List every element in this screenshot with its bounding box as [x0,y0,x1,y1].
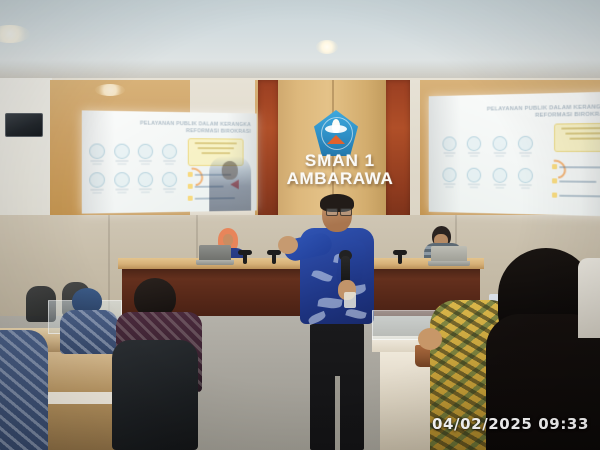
laptop-right [428,246,470,266]
chair [112,340,198,450]
school-name-line1: SMAN 1 [278,152,402,170]
desk-microphone-head [267,250,281,255]
ceiling-downlight [316,40,338,54]
desk-microphone-head [238,250,252,255]
eyeglasses-icon [340,208,352,216]
wall-downlight [95,84,125,96]
meeting-room-photo: PELAYANAN PUBLIK DALAM KERANGKA REFORMAS… [0,0,600,450]
school-name-sign: SMAN 1 AMBARAWA [278,152,402,188]
desk-microphone-head [393,250,407,255]
desk-trim [48,392,120,404]
school-name-line2: AMBARAWA [278,170,402,188]
presenter [286,196,382,450]
presenter-left-hand [278,236,298,254]
projection-screen-left: PELAYANAN PUBLIK DALAM KERANGKA REFORMAS… [82,110,257,213]
wall-speaker-icon [5,113,43,137]
laptop-left [196,245,234,265]
tut-wuri-handayani-logo-icon [314,110,358,156]
name-badge [344,292,356,308]
projection-screen-right: PELAYANAN PUBLIK DALAM KERANGKA REFORMAS… [429,92,600,217]
timestamp-overlay: 04/02/2025 09:33 [432,415,589,433]
eyeglasses-icon [326,208,338,216]
